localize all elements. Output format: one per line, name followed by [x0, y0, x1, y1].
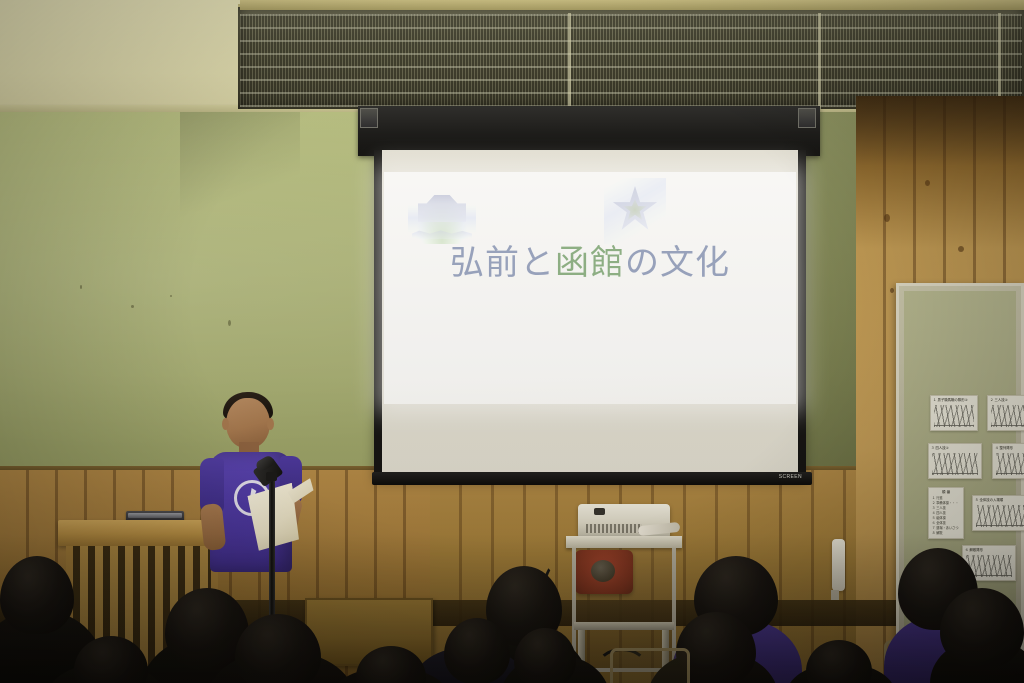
wall-speck: [228, 320, 231, 326]
chair-back: [610, 648, 690, 683]
wall-speck: [80, 285, 82, 289]
grille-mount-rail: [240, 0, 1024, 10]
goryokaku-star-fort-photo: [604, 178, 666, 244]
screen-bracket-right: [798, 108, 816, 128]
slide-title-part-2: 函館: [555, 243, 625, 283]
wood-knot: [958, 246, 964, 252]
stick-figure-diagram: [932, 453, 978, 475]
audience-head: [444, 618, 510, 683]
student-presenter: [196, 392, 308, 602]
projected-slide: [384, 172, 796, 404]
slide-title-part-1: 弘前と: [450, 243, 555, 283]
poster-item[interactable]: ３ 四人技①: [928, 443, 982, 479]
stick-figure-diagram: [991, 405, 1024, 427]
wood-knot: [925, 180, 930, 186]
poster-item[interactable]: ４ 整列隊形: [992, 443, 1024, 479]
projector-lens-icon: [594, 508, 605, 515]
microphone-clip: [266, 472, 277, 481]
presenter-head: [226, 398, 270, 448]
presenter-arm-left: [200, 503, 227, 551]
poster-item[interactable]: １ 男子騎馬戦の隊形①: [930, 395, 978, 431]
order-list-row: ７ 退場・あいさつ: [932, 526, 960, 531]
audience-head: [0, 556, 74, 634]
hirosaki-castle-photo: [408, 186, 476, 244]
presenter-ear-right: [267, 418, 274, 430]
poster-caption: ４ 整列隊形: [995, 445, 1024, 450]
photo-scene: 弘前と函館の文化 SCREEN １ 男子騎馬戦の隊形① ２ 三人技① ３ 四人技…: [0, 0, 1024, 683]
poster-caption: ３ 四人技①: [931, 445, 979, 450]
slide-title-part-3: の文化: [625, 243, 730, 283]
poster-caption: １ 男子騎馬戦の隊形①: [933, 397, 975, 402]
wood-wall-shadow: [856, 96, 1024, 166]
grille-seam: [818, 13, 821, 109]
projection-screen-casing[interactable]: [358, 106, 820, 156]
poster-caption: ２ 三人技①: [990, 397, 1024, 402]
grille-seam: [568, 13, 571, 109]
order-list-row: ８ 解散: [932, 531, 960, 536]
ventilation-grille: [238, 4, 1024, 109]
projector-vent: [586, 524, 642, 533]
presenter-ear-left: [222, 418, 229, 430]
wall-speck: [131, 305, 134, 308]
stick-figure-diagram: [976, 505, 1024, 527]
poster-order-list[interactable]: 順 番 １ 行進 ２ 準備体操・・・ ３ 三人技 ４ 四人技 ５ 組体操 ６ 全…: [928, 487, 964, 539]
grille-seam: [998, 13, 1001, 109]
order-list-title: 順 番: [932, 490, 960, 495]
poster-item[interactable]: ２ 三人技①: [987, 395, 1024, 431]
slide-title: 弘前と函館の文化: [384, 246, 796, 280]
cart-top-shelf: [566, 536, 682, 548]
poster-caption: ５ 全体技の入場順: [975, 497, 1024, 502]
screen-bracket-left: [360, 108, 378, 128]
wall-fixture: [832, 539, 845, 591]
poster-caption: ６ 解散隊形: [965, 547, 1013, 552]
screen-brand-label: SCREEN: [779, 474, 802, 480]
cart-mid-shelf: [574, 622, 674, 630]
projection-screen-bottom-bar: SCREEN: [372, 472, 812, 485]
wall-fixture-base: [831, 590, 839, 600]
stick-figure-diagram: [934, 405, 974, 427]
grille-mesh: [240, 14, 1022, 107]
wood-knot: [884, 214, 890, 222]
stick-figure-diagram: [996, 453, 1024, 475]
wood-knot: [890, 288, 894, 293]
poster-item[interactable]: ５ 全体技の入場順: [972, 495, 1024, 531]
wall-speck: [170, 295, 172, 297]
audience-head: [940, 588, 1024, 668]
